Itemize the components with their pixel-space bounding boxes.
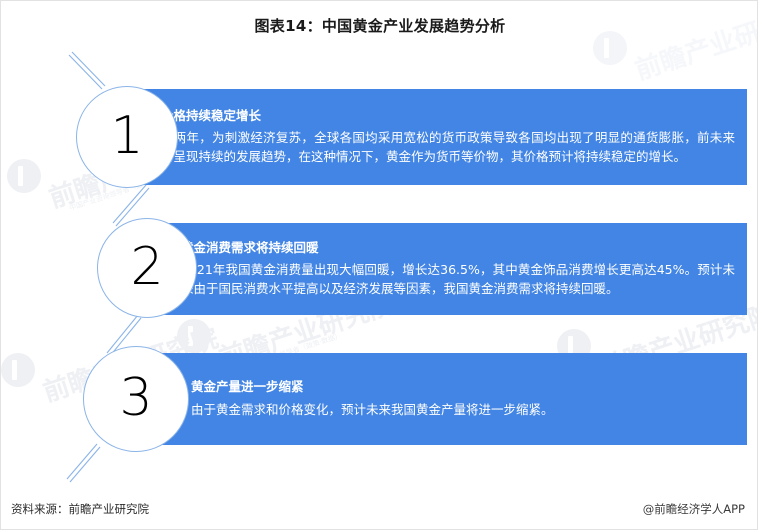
watermark-logo [7,159,41,193]
step-circle-2: 2 [97,218,197,318]
content-bar-2: 黄金消费需求将持续回暖 2021年我国黄金消费量出现大幅回暖，增长达36.5%，… [131,223,747,315]
content-bar-1: 价格持续稳定增长 近两年，为刺激经济复苏，全球各国均采用宽松的货币政策导致各国均… [111,89,747,185]
block-heading: 黄金消费需求将持续回暖 [181,240,735,257]
step-number: 2 [130,241,163,293]
watermark-logo [1,353,35,387]
footer-source: 资料来源：前瞻产业研究院 [11,501,149,517]
step-number: 1 [110,110,143,162]
footer-brand: @前瞻经济学人APP [643,501,745,517]
watermark-logo [593,31,627,65]
watermark-logo [177,319,211,353]
block-heading: 黄金产量进一步缩紧 [191,379,735,396]
step-circle-3: 3 [83,346,189,452]
block-heading: 价格持续稳定增长 [161,108,735,125]
block-body: 由于黄金需求和价格变化，预计未来我国黄金产量将进一步缩紧。 [191,400,735,419]
block-body: 近两年，为刺激经济复苏，全球各国均采用宽松的货币政策导致各国均出现了明显的通货膨… [161,128,735,166]
watermark-text: 前瞻产业研究院 [630,0,758,87]
block-body: 2021年我国黄金消费量出现大幅回暖，增长达36.5%，其中黄金饰品消费增长更高… [181,260,735,298]
content-bar-3: 黄金产量进一步缩紧 由于黄金需求和价格变化，预计未来我国黄金产量将进一步缩紧。 [141,353,747,445]
step-circle-1: 1 [76,86,178,188]
infographic-canvas: 前瞻产业研究院 中国产业咨询领导者（政策·数据） 前瞻产业研究院 中国产业咨询领… [0,0,758,530]
step-number: 3 [119,372,152,424]
page-title: 图表14：中国黄金产业发展趋势分析 [1,15,758,36]
